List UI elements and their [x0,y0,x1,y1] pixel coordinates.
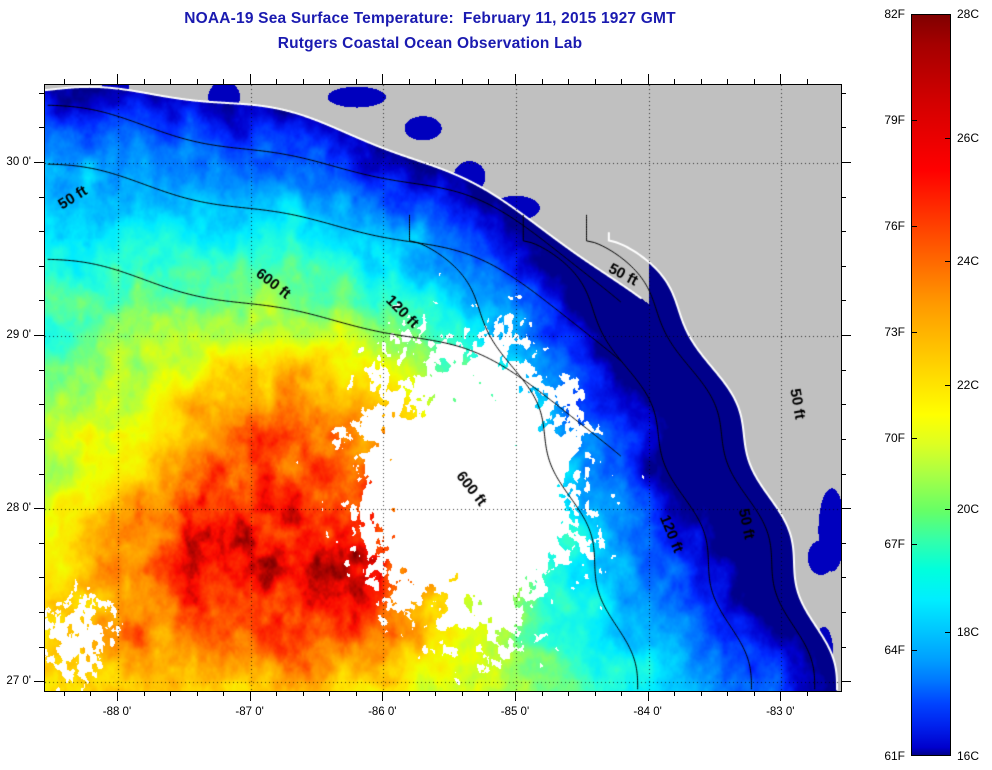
axis-tick [170,79,171,84]
axis-tick [841,508,851,509]
axis-tick [223,79,224,84]
colorbar-label-celsius: 24C [957,254,979,268]
colorbar-label-fahrenheit: 76F [884,219,905,233]
axis-tick [807,691,808,696]
axis-tick [515,74,516,84]
axis-tick [841,93,846,94]
axis-tick [841,474,846,475]
axis-tick [223,691,224,696]
x-axis-tick-label: -87 0' [235,706,263,718]
axis-tick [356,79,357,84]
axis-tick [39,404,44,405]
y-axis-tick-label: 28 0' [0,502,31,514]
axis-tick [303,79,304,84]
axis-tick [435,79,436,84]
colorbar-tick [945,385,951,386]
chart-subtitle: Rutgers Coastal Ocean Observation Lab [0,31,860,56]
colorbar-label-fahrenheit: 61F [884,749,905,763]
axis-tick [276,691,277,696]
axis-tick [250,74,251,84]
axis-tick [64,691,65,696]
axis-tick [754,691,755,696]
axis-tick [170,691,171,696]
axis-tick [34,681,44,682]
x-axis-tick-label: -85 0' [501,706,529,718]
axis-tick [841,543,846,544]
axis-tick [595,691,596,696]
colorbar-label-celsius: 26C [957,131,979,145]
axis-tick [841,266,846,267]
axis-tick [701,691,702,696]
axis-tick [841,647,846,648]
axis-tick [329,691,330,696]
axis-tick [144,691,145,696]
colorbar-tick [911,120,917,121]
axis-tick [568,691,569,696]
colorbar-tick [945,138,951,139]
axis-tick [841,681,851,682]
axis-tick [409,691,410,696]
axis-tick [329,79,330,84]
axis-tick [382,74,383,84]
x-axis-tick-label: -84 0' [633,706,661,718]
sst-map[interactable] [44,84,842,692]
colorbar-label-celsius: 28C [957,7,979,21]
axis-tick [780,691,781,701]
axis-tick [841,612,846,613]
axis-tick [39,197,44,198]
colorbar-tick [945,509,951,510]
axis-tick [303,691,304,696]
axis-tick [144,79,145,84]
colorbar-legend[interactable]: 82F79F76F73F70F67F64F61F28C26C24C22C20C1… [911,14,951,756]
colorbar-label-fahrenheit: 73F [884,325,905,339]
colorbar-tick [911,226,917,227]
colorbar-label-fahrenheit: 82F [884,7,905,21]
axis-tick [117,691,118,701]
colorbar-label-fahrenheit: 67F [884,537,905,551]
y-axis-tick-label: 30 0' [0,156,31,168]
axis-tick [39,439,44,440]
axis-tick [727,79,728,84]
colorbar-tick [945,261,951,262]
axis-tick [754,79,755,84]
axis-tick [435,691,436,696]
axis-tick [841,335,851,336]
colorbar-tick [911,332,917,333]
axis-tick [515,691,516,701]
axis-tick [648,74,649,84]
colorbar-label-fahrenheit: 79F [884,113,905,127]
x-axis-tick-label: -88 0' [103,706,131,718]
axis-tick [34,335,44,336]
axis-tick [595,79,596,84]
axis-tick [841,162,851,163]
axis-tick [197,691,198,696]
axis-tick [841,577,846,578]
axis-tick [197,79,198,84]
axis-tick [34,162,44,163]
colorbar-label-celsius: 22C [957,378,979,392]
x-axis-tick-label: -83 0' [766,706,794,718]
colorbar-label-celsius: 20C [957,502,979,516]
axis-tick [488,79,489,84]
axis-tick [382,691,383,701]
axis-tick [462,691,463,696]
axis-tick [39,231,44,232]
colorbar-tick [911,438,917,439]
axis-tick [841,231,846,232]
axis-tick [841,197,846,198]
axis-tick [39,127,44,128]
chart-title-block: NOAA-19 Sea Surface Temperature: Februar… [0,6,860,56]
axis-tick [674,691,675,696]
axis-tick [39,577,44,578]
axis-tick [462,79,463,84]
axis-tick [807,79,808,84]
axis-tick [841,127,846,128]
y-axis-tick-label: 29 0' [0,329,31,341]
axis-tick [841,404,846,405]
axis-tick [542,79,543,84]
axis-tick [542,691,543,696]
axis-tick [39,543,44,544]
axis-tick [39,370,44,371]
axis-tick [90,691,91,696]
axis-tick [250,691,251,701]
axis-tick [356,691,357,696]
axis-tick [39,266,44,267]
y-axis-tick-label: 27 0' [0,675,31,687]
colorbar-tick [945,632,951,633]
axis-tick [34,508,44,509]
axis-tick [621,691,622,696]
axis-tick [64,79,65,84]
axis-tick [568,79,569,84]
colorbar-label-fahrenheit: 64F [884,643,905,657]
axis-tick [841,300,846,301]
axis-tick [90,79,91,84]
x-axis-tick-label: -86 0' [368,706,396,718]
colorbar-label-fahrenheit: 70F [884,431,905,445]
axis-tick [841,439,846,440]
axis-tick [276,79,277,84]
chart-title: NOAA-19 Sea Surface Temperature: Februar… [0,6,860,31]
axis-tick [780,74,781,84]
axis-tick [841,370,846,371]
sst-raster-canvas [45,85,841,691]
axis-tick [39,93,44,94]
axis-tick [727,691,728,696]
colorbar-tick [911,650,917,651]
axis-tick [39,474,44,475]
axis-tick [648,691,649,701]
axis-tick [701,79,702,84]
axis-tick [488,691,489,696]
axis-tick [674,79,675,84]
axis-tick [409,79,410,84]
axis-tick [117,74,118,84]
axis-tick [39,612,44,613]
colorbar-label-celsius: 16C [957,749,979,763]
axis-tick [39,300,44,301]
axis-tick [621,79,622,84]
axis-tick [39,647,44,648]
colorbar-tick [911,544,917,545]
colorbar-label-celsius: 18C [957,625,979,639]
